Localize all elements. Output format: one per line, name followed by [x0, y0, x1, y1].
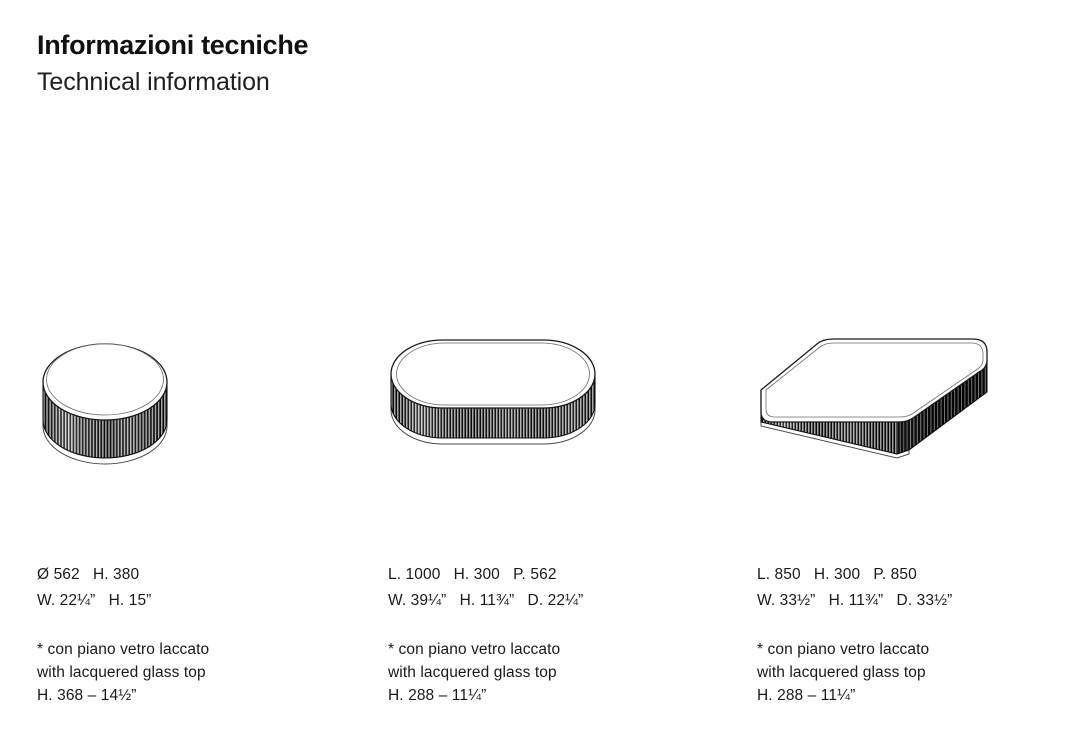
spec-imperial: W. 33½” H. 11¾” D. 33½” — [757, 588, 1081, 614]
note-line-english: with lacquered glass top — [37, 661, 367, 684]
note-line-english: with lacquered glass top — [757, 661, 1081, 684]
note-line-height: H. 288 – 11¼” — [757, 684, 1081, 707]
page-header: Informazioni tecniche Technical informat… — [37, 30, 308, 98]
page-title-italian: Informazioni tecniche — [37, 30, 308, 62]
spec-metric: L. 850 H. 300 P. 850 — [757, 562, 1081, 588]
note-line-italian: * con piano vetro laccato — [37, 638, 367, 661]
product-specs-3: L. 850 H. 300 P. 850 W. 33½” H. 11¾” D. … — [757, 562, 1081, 614]
product-illustration-round-cylinder-table — [37, 330, 367, 495]
product-note-1: * con piano vetro laccato with lacquered… — [37, 638, 367, 707]
spec-imperial: W. 39¼” H. 11¾” D. 22¼” — [388, 588, 718, 614]
spec-imperial: W. 22¼” H. 15” — [37, 588, 367, 614]
product-specs-2: L. 1000 H. 300 P. 562 W. 39¼” H. 11¾” D.… — [388, 562, 718, 614]
note-line-italian: * con piano vetro laccato — [757, 638, 1081, 661]
product-specs-1: Ø 562 H. 380 W. 22¼” H. 15” — [37, 562, 367, 614]
note-line-height: H. 288 – 11¼” — [388, 684, 718, 707]
note-line-height: H. 368 – 14½” — [37, 684, 367, 707]
page-title-english: Technical information — [37, 66, 308, 99]
product-column-2: L. 1000 H. 300 P. 562 W. 39¼” H. 11¾” D.… — [388, 330, 718, 495]
spec-metric: Ø 562 H. 380 — [37, 562, 367, 588]
technical-information-page: Informazioni tecniche Technical informat… — [0, 0, 1081, 748]
product-note-3: * con piano vetro laccato with lacquered… — [757, 638, 1081, 707]
product-note-2: * con piano vetro laccato with lacquered… — [388, 638, 718, 707]
note-line-english: with lacquered glass top — [388, 661, 718, 684]
spec-metric: L. 1000 H. 300 P. 562 — [388, 562, 718, 588]
product-illustration-square-rounded-table — [757, 330, 1081, 495]
note-line-italian: * con piano vetro laccato — [388, 638, 718, 661]
product-column-3: L. 850 H. 300 P. 850 W. 33½” H. 11¾” D. … — [757, 330, 1081, 495]
product-column-1: Ø 562 H. 380 W. 22¼” H. 15” * con piano … — [37, 330, 367, 495]
product-illustration-oval-stadium-table — [388, 330, 718, 495]
